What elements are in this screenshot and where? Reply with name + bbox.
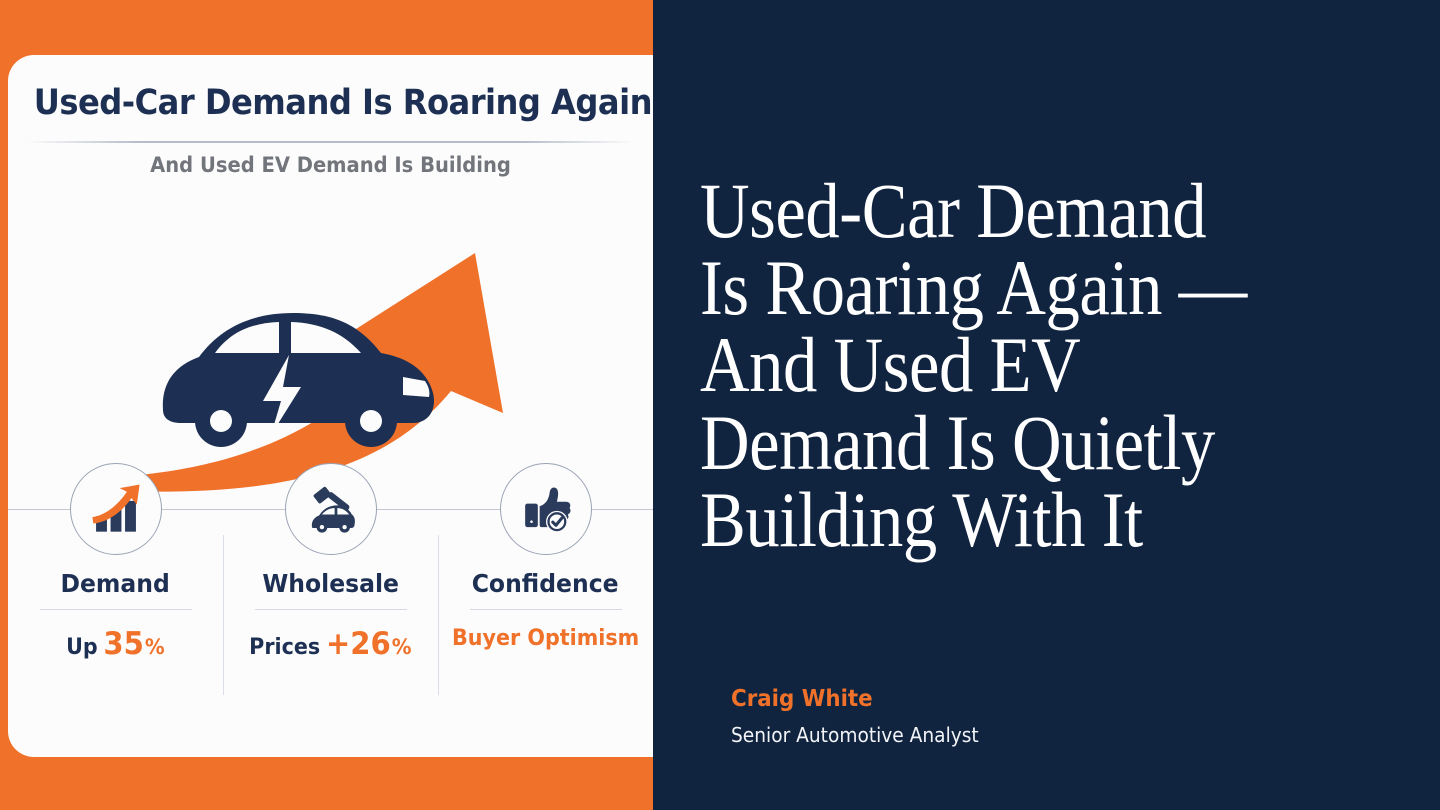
stat-value-word: Up — [66, 635, 98, 660]
card-title: Used-Car Demand Is Roaring Again — [34, 83, 627, 123]
stat-value-number: 35 — [103, 626, 144, 662]
title-divider — [30, 141, 631, 143]
stat-value: Up 35 % — [66, 626, 165, 662]
auction-gavel-car-icon — [285, 463, 377, 555]
stat-value: Buyer Optimism — [452, 626, 639, 651]
bar-chart-growth-arrow-icon — [70, 463, 162, 555]
stat-divider — [255, 609, 407, 610]
stat-value-unit: % — [392, 635, 412, 659]
headline-line: Is Roaring Again — — [700, 249, 1316, 326]
stat-confidence: Confidence Buyer Optimism — [438, 447, 653, 702]
stat-wholesale: Wholesale Prices +26 % — [223, 447, 438, 702]
stat-label: Demand — [61, 569, 170, 598]
slide-headline: Used-Car Demand Is Roaring Again — And U… — [700, 172, 1316, 558]
stat-value-unit: % — [145, 635, 165, 659]
presentation-slide: Used-Car Demand Is Roaring Again And Use… — [0, 0, 1440, 810]
infographic-card: Used-Car Demand Is Roaring Again And Use… — [8, 55, 653, 757]
headline-line: And Used EV — [700, 326, 1316, 403]
stat-value-full: Buyer Optimism — [452, 626, 639, 651]
left-orange-panel: Used-Car Demand Is Roaring Again And Use… — [0, 0, 653, 810]
stats-row: Demand Up 35 % — [8, 447, 653, 702]
stat-label: Wholesale — [262, 569, 399, 598]
stat-demand: Demand Up 35 % — [8, 447, 223, 702]
author-role: Senior Automotive Analyst — [731, 723, 979, 747]
stat-value-word: Prices — [249, 635, 320, 660]
headline-line: Building With It — [700, 481, 1316, 558]
thumbs-up-check-icon — [500, 463, 592, 555]
stat-divider — [470, 609, 622, 610]
right-navy-panel: Used-Car Demand Is Roaring Again — And U… — [653, 0, 1440, 810]
stat-value: Prices +26 % — [249, 626, 411, 662]
stat-divider — [40, 609, 192, 610]
stat-label: Confidence — [472, 569, 619, 598]
headline-line: Used-Car Demand — [700, 172, 1316, 249]
card-subtitle: And Used EV Demand Is Building — [31, 153, 631, 177]
stat-value-number: +26 — [326, 626, 391, 662]
headline-line: Demand Is Quietly — [700, 404, 1316, 481]
author-name: Craig White — [731, 686, 979, 712]
byline: Craig White Senior Automotive Analyst — [731, 686, 997, 747]
